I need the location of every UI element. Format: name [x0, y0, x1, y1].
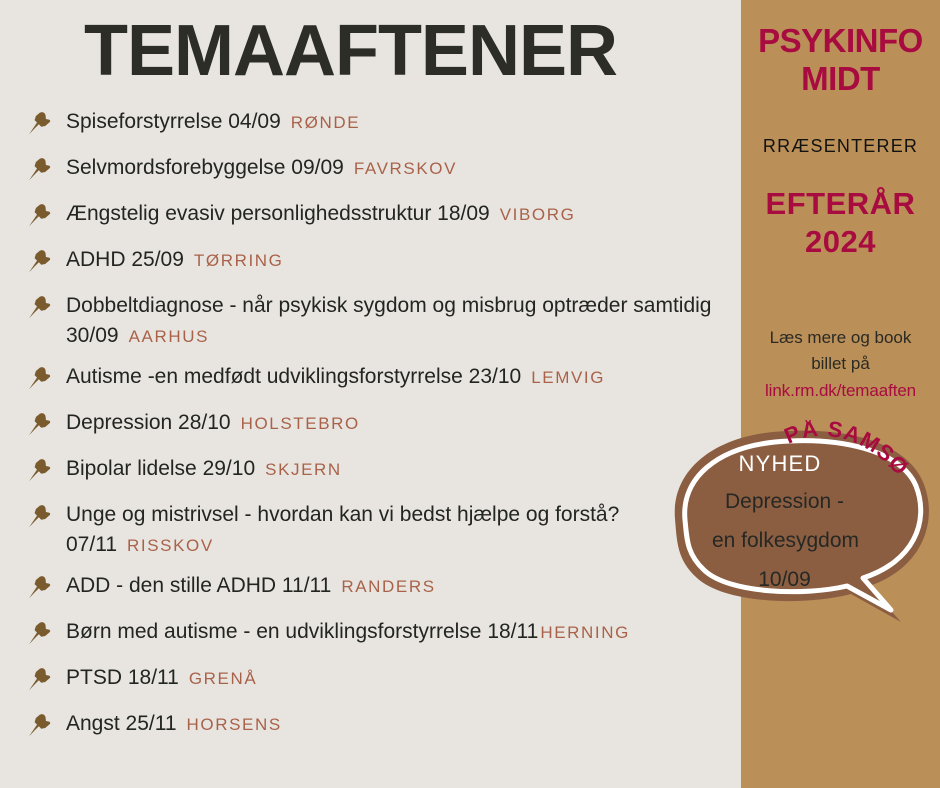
event-line: PTSD 18/11GRENÅ [66, 663, 740, 694]
sidebar-panel: PSYKINFO MIDT RRÆSENTERER EFTERÅR 2024 L… [741, 0, 940, 788]
event-line: Depression 28/10HOLSTEBRO [66, 408, 740, 439]
event-line: Selvmordsforebyggelse 09/09FAVRSKOV [66, 153, 740, 184]
event-city: HERNING [540, 623, 630, 642]
pushpin-icon [26, 156, 52, 182]
bubble-shape [655, 424, 940, 639]
event-title: Bipolar lidelse 29/10 [66, 457, 255, 480]
event-city: HOLSTEBRO [241, 414, 360, 433]
event-line: Unge og mistrivsel - hvordan kan vi beds… [66, 500, 740, 561]
event-title: ADHD 25/09 [66, 248, 184, 271]
event-line: Autisme -en medfødt udviklingsforstyrrel… [66, 362, 740, 393]
pushpin-icon-svg [26, 411, 52, 437]
event-city: RISSKOV [127, 536, 214, 555]
booking-url[interactable]: link.rm.dk/temaaften [741, 381, 940, 401]
event-city: LEMVIG [531, 368, 605, 387]
event-item: Børn med autisme - en udviklingsforstyrr… [26, 617, 740, 653]
pushpin-icon [26, 248, 52, 274]
pushpin-icon [26, 457, 52, 483]
pushpin-icon-svg [26, 365, 52, 391]
pushpin-icon-svg [26, 574, 52, 600]
event-item: Ængstelig evasiv personlighedsstruktur 1… [26, 199, 740, 235]
pushpin-icon [26, 620, 52, 646]
pushpin-icon-svg [26, 110, 52, 136]
event-city: TØRRING [194, 251, 284, 270]
pushpin-icon-svg [26, 620, 52, 646]
event-title: ADD - den stille ADHD 11/11 [66, 574, 331, 597]
pushpin-icon [26, 666, 52, 692]
event-title: Autisme -en medfødt udviklingsforstyrrel… [66, 365, 521, 388]
pushpin-icon [26, 365, 52, 391]
event-item: Autisme -en medfødt udviklingsforstyrrel… [26, 362, 740, 398]
event-item: Dobbeltdiagnose - når psykisk sygdom og … [26, 291, 740, 352]
pushpin-icon-svg [26, 294, 52, 320]
event-list: Spiseforstyrrelse 04/09RØNDE Selvmordsfo… [26, 107, 740, 755]
event-city: HORSENS [187, 715, 282, 734]
pushpin-icon-svg [26, 666, 52, 692]
pushpin-icon [26, 202, 52, 228]
pushpin-icon [26, 574, 52, 600]
pushpin-icon [26, 411, 52, 437]
pushpin-icon-svg [26, 248, 52, 274]
event-item: Unge og mistrivsel - hvordan kan vi beds… [26, 500, 740, 561]
season-line-2: 2024 [741, 223, 940, 261]
event-title: Depression 28/10 [66, 411, 231, 434]
pushpin-icon [26, 712, 52, 738]
event-item: Angst 25/11HORSENS [26, 709, 740, 745]
pushpin-icon [26, 503, 52, 529]
event-line: ADHD 25/09TØRRING [66, 245, 740, 276]
event-item: Depression 28/10HOLSTEBRO [26, 408, 740, 444]
pushpin-icon [26, 110, 52, 136]
event-title: Selvmordsforebyggelse 09/09 [66, 156, 344, 179]
event-item: ADHD 25/09TØRRING [26, 245, 740, 281]
poster-canvas: TEMAAFTENER Spiseforstyrrelse 04/09RØNDE… [0, 0, 940, 788]
pushpin-icon-svg [26, 503, 52, 529]
event-line: Ængstelig evasiv personlighedsstruktur 1… [66, 199, 740, 230]
season-title: EFTERÅR 2024 [741, 185, 940, 261]
brand-line-2: MIDT [741, 60, 940, 98]
event-line: Angst 25/11HORSENS [66, 709, 740, 740]
event-title: Angst 25/11 [66, 712, 177, 735]
event-title: Børn med autisme - en udviklingsforstyrr… [66, 620, 538, 643]
event-line: Spiseforstyrrelse 04/09RØNDE [66, 107, 740, 138]
event-title: Spiseforstyrrelse 04/09 [66, 110, 281, 133]
event-item: PTSD 18/11GRENÅ [26, 663, 740, 699]
page-title: TEMAAFTENER [84, 8, 617, 94]
pushpin-icon-svg [26, 156, 52, 182]
event-item: ADD - den stille ADHD 11/11RANDERS [26, 571, 740, 607]
event-line: ADD - den stille ADHD 11/11RANDERS [66, 571, 740, 602]
event-title: PTSD 18/11 [66, 666, 179, 689]
event-line: Dobbeltdiagnose - når psykisk sygdom og … [66, 291, 740, 352]
pushpin-icon-svg [26, 457, 52, 483]
pushpin-icon-svg [26, 202, 52, 228]
event-title: Ængstelig evasiv personlighedsstruktur 1… [66, 202, 490, 225]
event-line: Bipolar lidelse 29/10SKJERN [66, 454, 740, 485]
event-city: FAVRSKOV [354, 159, 457, 178]
event-item: Bipolar lidelse 29/10SKJERN [26, 454, 740, 490]
event-item: Spiseforstyrrelse 04/09RØNDE [26, 107, 740, 143]
presents-label: RRÆSENTERER [741, 136, 940, 157]
event-item: Selvmordsforebyggelse 09/09FAVRSKOV [26, 153, 740, 189]
event-line: Børn med autisme - en udviklingsforstyrr… [66, 617, 740, 648]
event-city: RANDERS [341, 577, 435, 596]
news-speech-bubble: NYHED Depression - en folkesygdom 10/09 … [655, 424, 940, 639]
event-city: SKJERN [265, 460, 342, 479]
brand-line-1: PSYKINFO [741, 22, 940, 60]
event-city: AARHUS [129, 327, 209, 346]
pushpin-icon-svg [26, 712, 52, 738]
booking-info: Læs mere og book billet på [745, 325, 936, 377]
event-city: GRENÅ [189, 669, 257, 688]
brand-title: PSYKINFO MIDT [741, 22, 940, 98]
pushpin-icon [26, 294, 52, 320]
season-line-1: EFTERÅR [741, 185, 940, 223]
event-city: VIBORG [500, 205, 576, 224]
booking-line-1: Læs mere og book [745, 325, 936, 351]
booking-line-2: billet på [745, 351, 936, 377]
event-city: RØNDE [291, 113, 360, 132]
